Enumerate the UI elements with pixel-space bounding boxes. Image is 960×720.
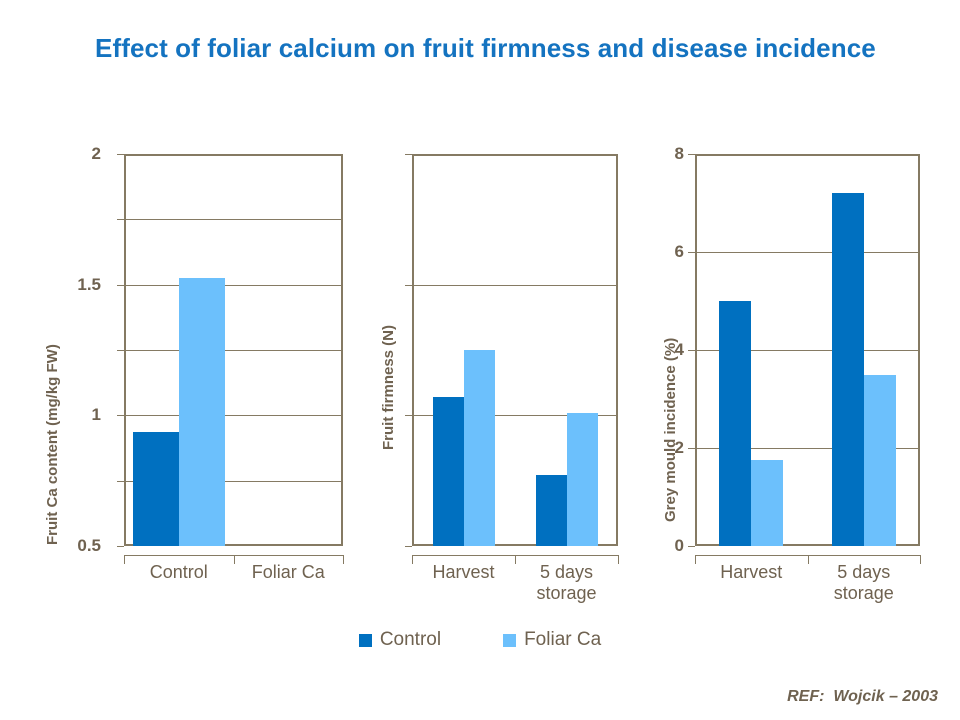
- chart-3-y-tick-mark: [688, 252, 695, 253]
- chart-3-y-tick-label: 4: [675, 340, 684, 360]
- legend-label: Control: [380, 629, 441, 651]
- legend-item-foliar-ca[interactable]: Foliar Ca: [503, 629, 601, 651]
- chart-3-bar-foliar-ca-harvest: [751, 460, 783, 546]
- reference-citation: REF: Wojcik – 2003: [787, 688, 938, 706]
- chart-3-y-tick-label: 0: [675, 536, 684, 556]
- chart-legend: ControlFoliar Ca: [0, 629, 960, 651]
- chart-3-y-tick-mark: [688, 350, 695, 351]
- legend-swatch-icon: [359, 634, 372, 647]
- chart-3-x-category-label: Harvest: [695, 562, 808, 583]
- chart-3-y-tick-mark: [688, 546, 695, 547]
- chart-3-x-category-label: 5 days storage: [808, 562, 921, 603]
- legend-swatch-icon: [503, 634, 516, 647]
- chart-3-gridline: [697, 252, 918, 253]
- chart-3-y-tick-label: 6: [675, 242, 684, 262]
- legend-item-control[interactable]: Control: [359, 629, 441, 651]
- chart-3-y-tick-label: 8: [675, 144, 684, 164]
- chart-3-bar-control-harvest: [719, 301, 751, 546]
- chart-3-y-tick-label: 2: [675, 438, 684, 458]
- chart-grey-mould-incidence: Grey mould incidence (%) 02468 Harvest5 …: [0, 0, 960, 620]
- legend-label: Foliar Ca: [524, 629, 601, 651]
- chart-3-bar-control-5-days-storage: [832, 193, 864, 546]
- chart-3-y-tick-mark: [688, 448, 695, 449]
- chart-3-y-axis-title: Grey mould incidence (%): [662, 338, 679, 522]
- chart-3-y-tick-mark: [688, 154, 695, 155]
- chart-3-x-tick-mark: [920, 555, 921, 564]
- chart-3-bar-foliar-ca-5-days-storage: [864, 375, 896, 547]
